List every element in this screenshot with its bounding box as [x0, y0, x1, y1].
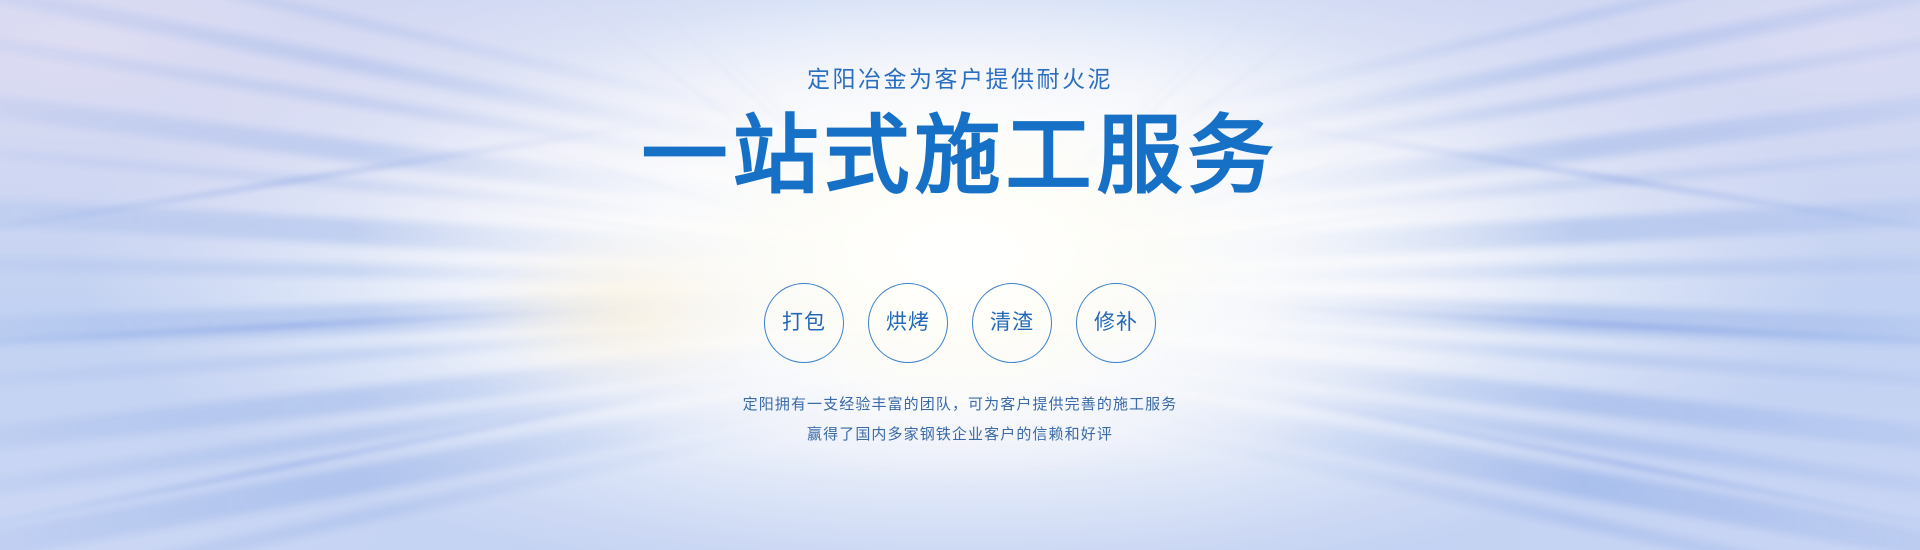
footer-line-trust: 赢得了国内多家钢铁企业客户的信赖和好评: [807, 427, 1113, 442]
service-badge-slag-cleaning[interactable]: 清渣: [972, 283, 1052, 363]
service-badge-packing[interactable]: 打包: [764, 283, 844, 363]
service-badge-repair[interactable]: 修补: [1076, 283, 1156, 363]
banner-subtitle: 定阳冶金为客户提供耐火泥: [807, 68, 1113, 91]
service-badge-label: 清渣: [990, 312, 1034, 333]
service-badge-group: 打包 烘烤 清渣 修补: [764, 283, 1156, 363]
service-badge-baking[interactable]: 烘烤: [868, 283, 948, 363]
hero-banner: 定阳冶金为客户提供耐火泥 一站式施工服务 打包 烘烤 清渣 修补 定阳拥有一支经…: [0, 0, 1920, 550]
banner-content: 定阳冶金为客户提供耐火泥 一站式施工服务 打包 烘烤 清渣 修补 定阳拥有一支经…: [0, 0, 1920, 550]
banner-footer: 定阳拥有一支经验丰富的团队，可为客户提供完善的施工服务 赢得了国内多家钢铁企业客…: [743, 397, 1178, 442]
banner-headline: 一站式施工服务: [642, 113, 1279, 199]
service-badge-label: 修补: [1094, 312, 1138, 333]
footer-line-team: 定阳拥有一支经验丰富的团队，可为客户提供完善的施工服务: [743, 397, 1178, 412]
service-badge-label: 烘烤: [886, 312, 930, 333]
service-badge-label: 打包: [782, 312, 826, 333]
